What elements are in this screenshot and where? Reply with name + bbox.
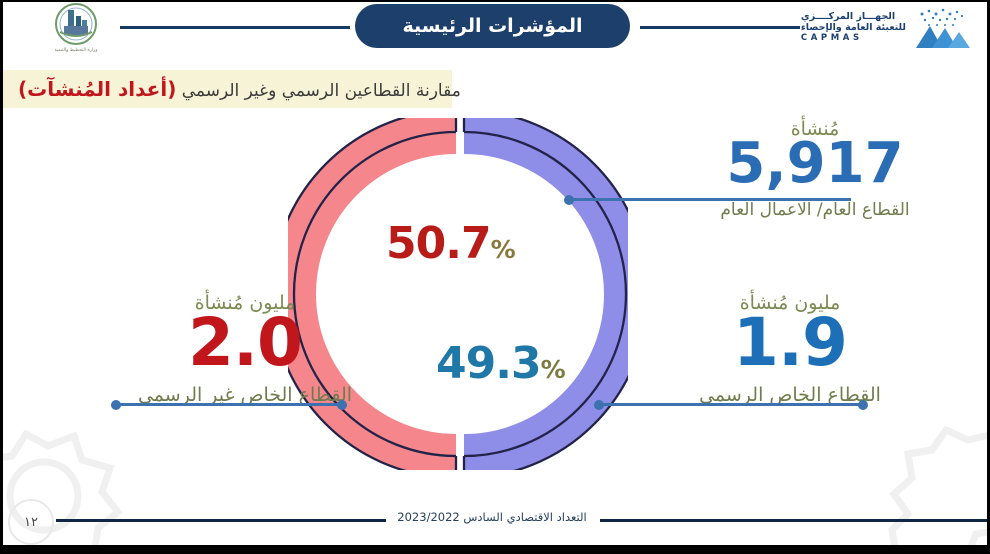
footer-rule-left [56,519,386,522]
slide-canvas: وزارة التخطيط والتنمية المؤشرات الرئيسية [0,0,990,554]
header-rule-left [120,26,350,29]
callout-public-value: 5,917 [640,136,990,192]
callout-public-sector: مُنشأة 5,917 القطاع العام/ الاعمال العام [640,118,990,220]
connector-public-sector [566,198,851,201]
connector-dot [858,400,868,410]
connector-dot [594,400,604,410]
slide-header: وزارة التخطيط والتنمية المؤشرات الرئيسية [0,0,990,56]
percentage-formal-number: 49.3 [436,338,541,389]
banner-text: مقارنة القطاعين الرسمي وغير الرسمي (أعدا… [18,77,461,101]
capmas-arabic-line2: للتعبئة العامة والإحصاء [801,23,906,34]
header-title-pill: المؤشرات الرئيسية [355,4,630,48]
frame-bar-top [0,0,990,2]
frame-bar-bottom [0,545,990,554]
connector-dot [564,195,574,205]
percentage-informal: 50.7% [386,218,516,269]
capmas-mountain-icon [912,6,974,50]
callout-public-sector-label: القطاع العام/ الاعمال العام [640,200,990,220]
slide-footer: ١٢ التعداد الاقتصادي السادس 2023/2022 [0,495,990,545]
connector-dot [337,400,347,410]
page-number: ١٢ [24,515,38,530]
ministry-emblem-logo: وزارة التخطيط والتنمية [40,2,112,54]
percentage-formal-symbol: % [541,355,566,384]
banner-text-emphasis: (أعداد المُنشآت) [18,77,176,101]
connector-dot [111,400,121,410]
connector-informal-private [113,403,345,406]
callout-informal-value: 2.0 [95,310,395,376]
footer-text: التعداد الاقتصادي السادس 2023/2022 [392,510,592,524]
svg-text:وزارة التخطيط والتنمية: وزارة التخطيط والتنمية [54,48,97,53]
callout-formal-private: مليون مُنشأة 1.9 القطاع الخاص الرسمي [640,292,940,406]
header-rule-right [640,26,800,29]
footer-rule-right [600,519,990,522]
callout-formal-value: 1.9 [640,310,940,376]
percentage-formal: 49.3% [436,338,566,389]
frame-bar-left [0,0,3,554]
percentage-informal-symbol: % [491,235,516,264]
connector-formal-private [596,403,866,406]
section-banner: مقارنة القطاعين الرسمي وغير الرسمي (أعدا… [0,70,452,108]
capmas-english-acronym: CAPMAS [801,34,863,44]
page-title: المؤشرات الرئيسية [403,15,583,37]
banner-text-main: مقارنة القطاعين الرسمي وغير الرسمي [176,81,460,101]
callout-informal-private: مليون مُنشأة 2.0 القطاع الخاص غير الرسمي [95,292,395,406]
page-number-badge: ١٢ [8,499,54,545]
percentage-informal-number: 50.7 [386,218,491,269]
capmas-logo: الجهـــاز المركــــزي للتعبئة العامة وال… [806,5,974,51]
